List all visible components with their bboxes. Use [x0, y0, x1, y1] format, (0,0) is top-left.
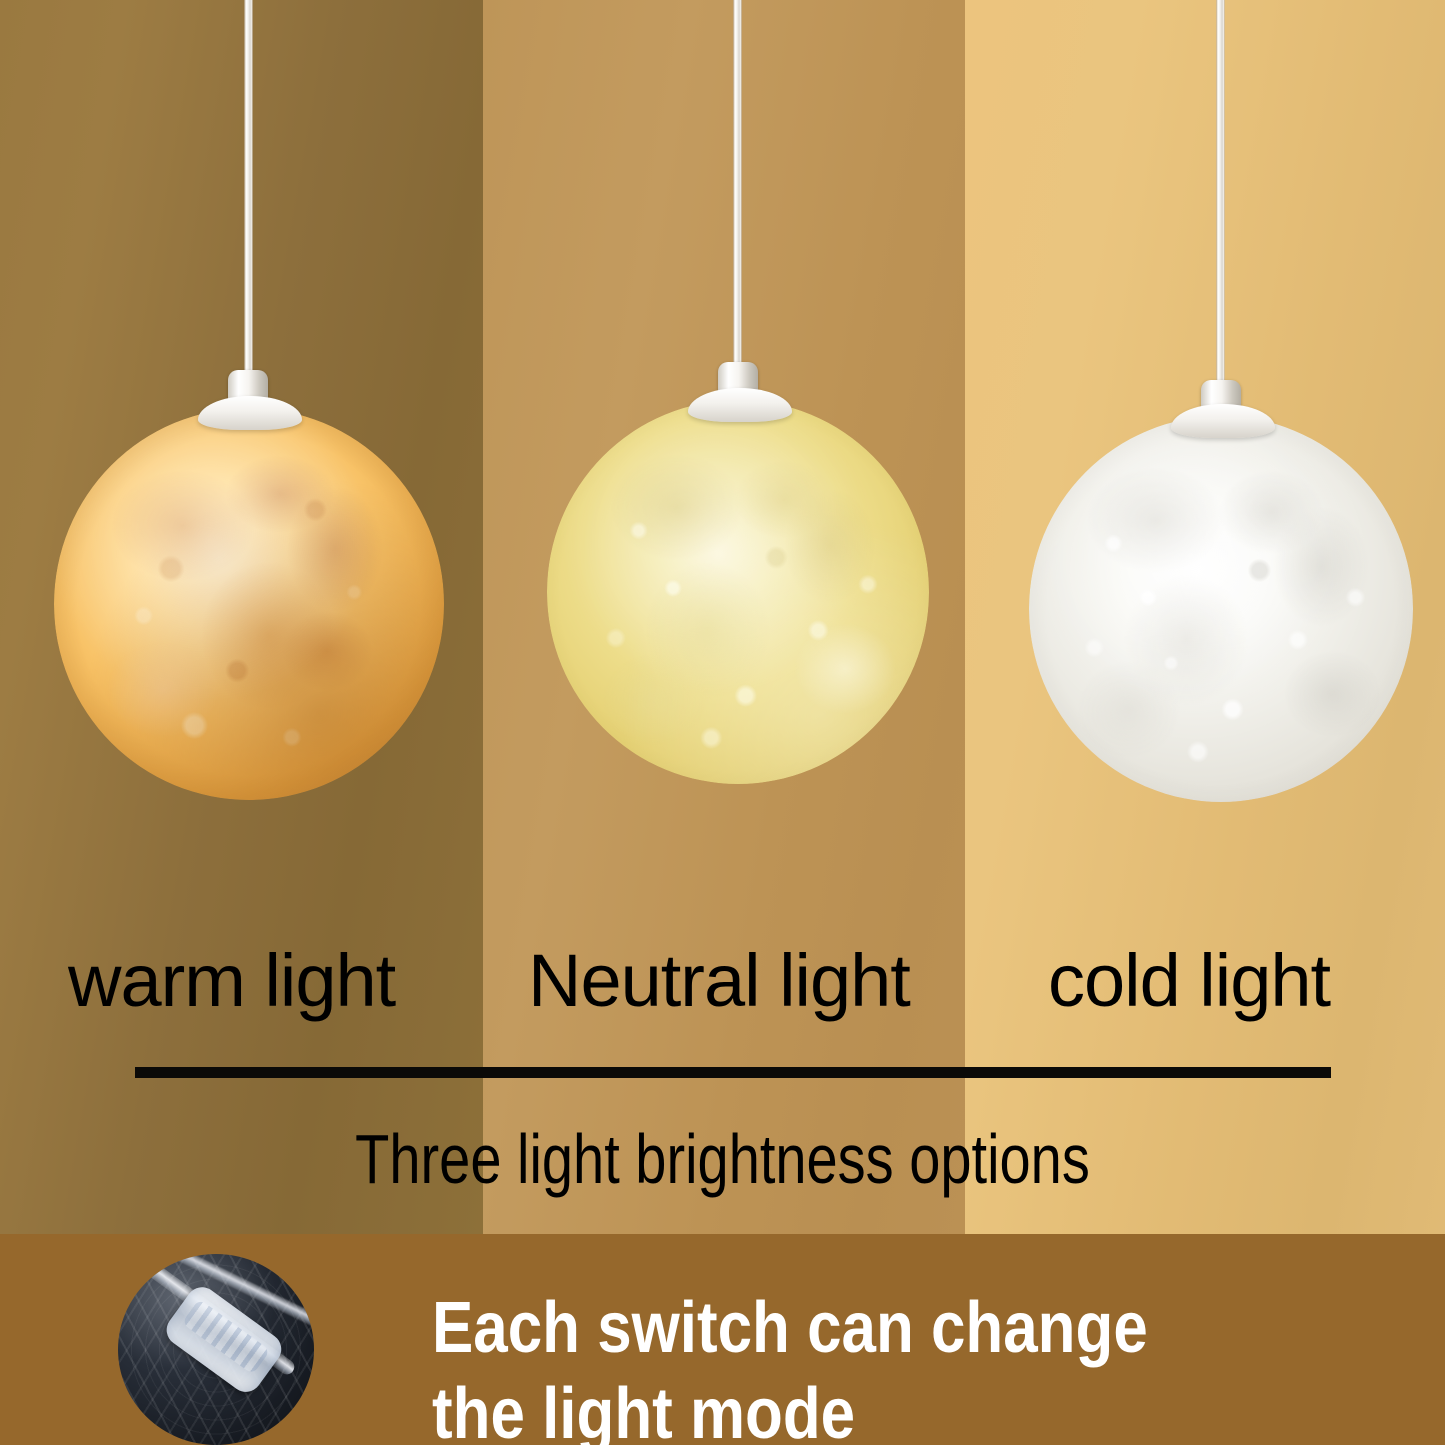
footer-headline-line-1: Each switch can change [432, 1285, 1283, 1371]
moon-shading-cold [1029, 416, 1413, 802]
mode-label-cold: cold light [1048, 944, 1330, 1018]
footer-headline: Each switch can change the light mode [432, 1285, 1283, 1445]
hanging-cord-icon-cold [1216, 0, 1225, 400]
moon-globe-icon-cold [1029, 416, 1413, 802]
moon-globe-icon-neutral [547, 400, 929, 784]
moon-shading-neutral [547, 400, 929, 784]
horizontal-divider [135, 1067, 1331, 1078]
tagline-text: Three light brightness options [145, 1124, 1301, 1194]
moon-globe-icon-warm [54, 408, 444, 800]
hanging-cord-icon-neutral [733, 0, 742, 382]
product-feature-image: warm light Neutral light cold light Thre… [0, 0, 1445, 1445]
moon-shading-warm [54, 408, 444, 800]
footer-headline-line-2: the light mode [432, 1371, 1283, 1445]
switch-photo-sheen [118, 1254, 314, 1445]
hanging-cord-icon-warm [244, 0, 253, 390]
mode-label-neutral: Neutral light [528, 944, 910, 1018]
inline-cord-switch-photo [118, 1254, 314, 1445]
mode-label-warm: warm light [68, 944, 395, 1018]
